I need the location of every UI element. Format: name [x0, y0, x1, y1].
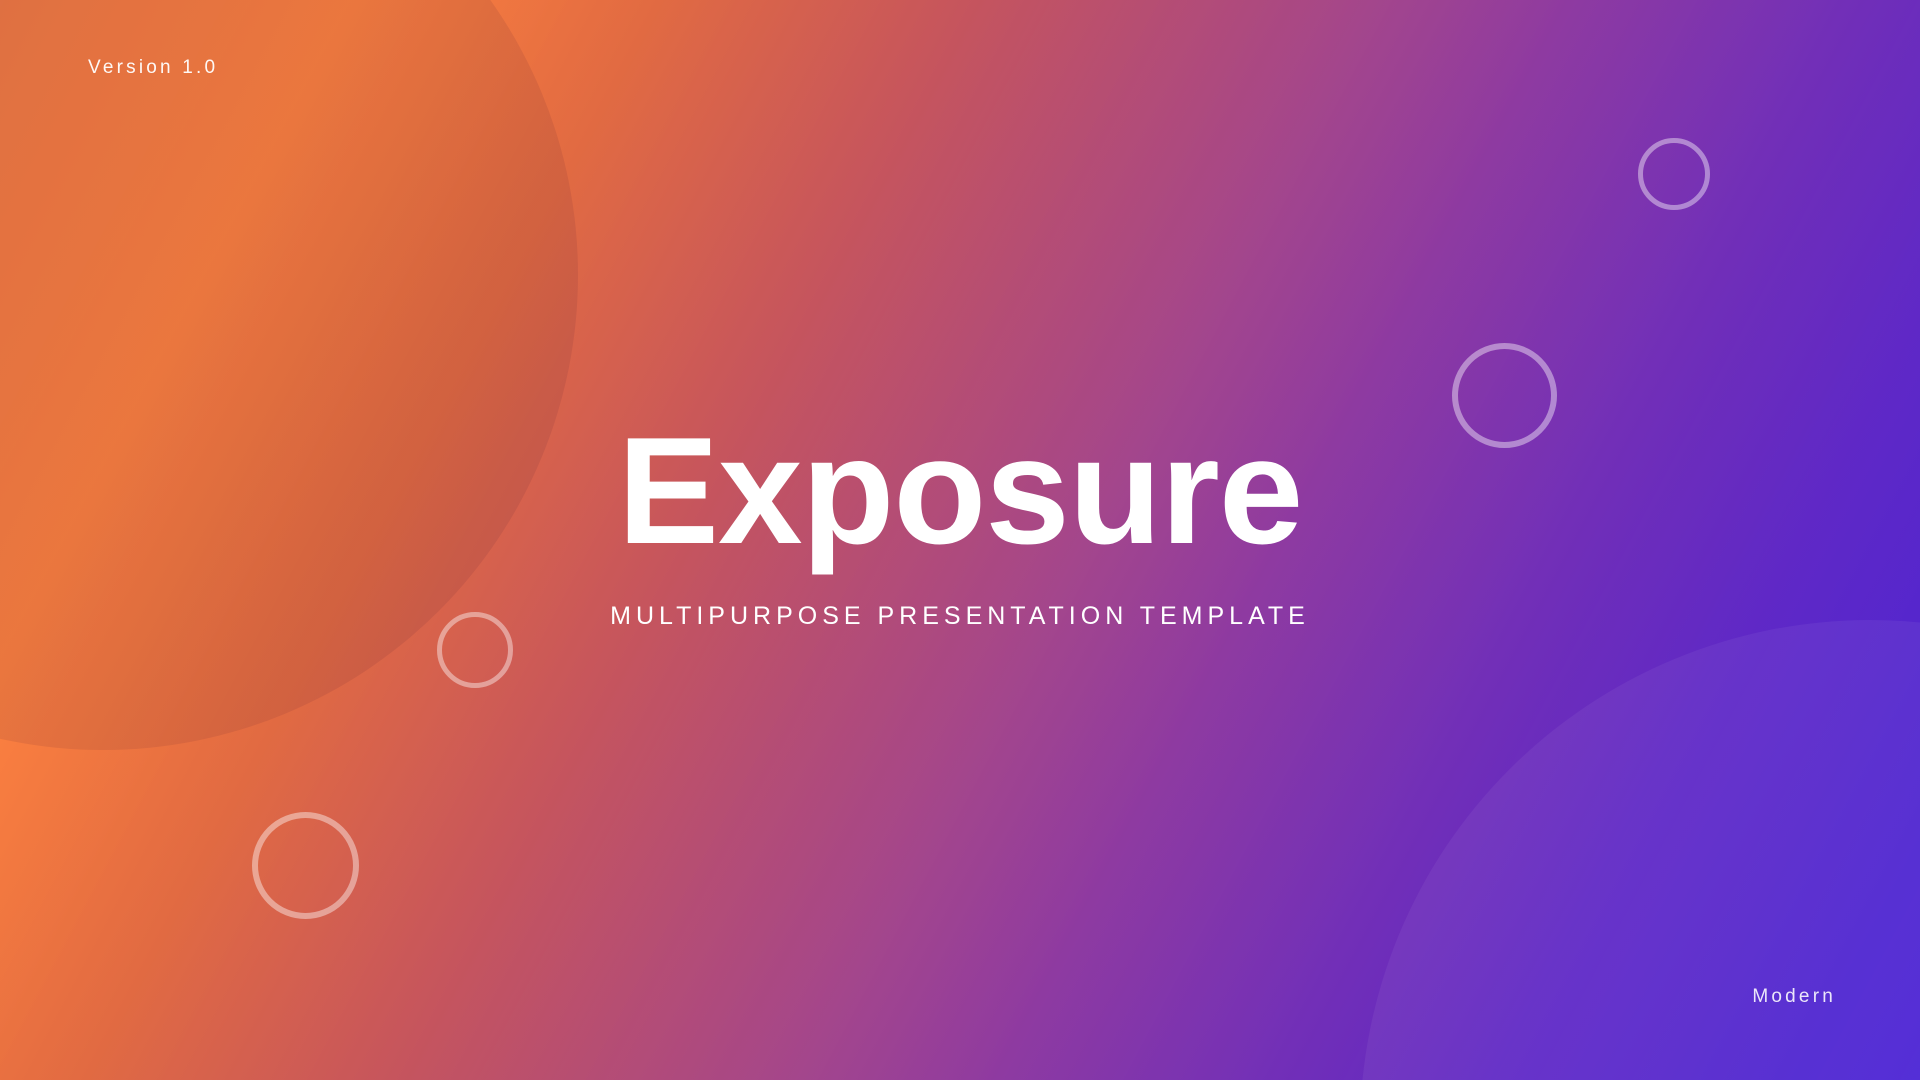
theme-label: Modern [1752, 986, 1836, 1008]
decorative-ring-bottom-left [252, 812, 359, 919]
presentation-slide: Version 1.0 Exposure MULTIPURPOSE PRESEN… [0, 0, 1920, 1080]
page-title: Exposure [0, 415, 1920, 567]
version-label: Version 1.0 [88, 57, 218, 79]
title-block: Exposure MULTIPURPOSE PRESENTATION TEMPL… [0, 415, 1920, 631]
subtitle: MULTIPURPOSE PRESENTATION TEMPLATE [0, 601, 1920, 631]
decorative-circle-bottom-right [1360, 620, 1920, 1080]
decorative-ring-top-right [1638, 138, 1710, 210]
